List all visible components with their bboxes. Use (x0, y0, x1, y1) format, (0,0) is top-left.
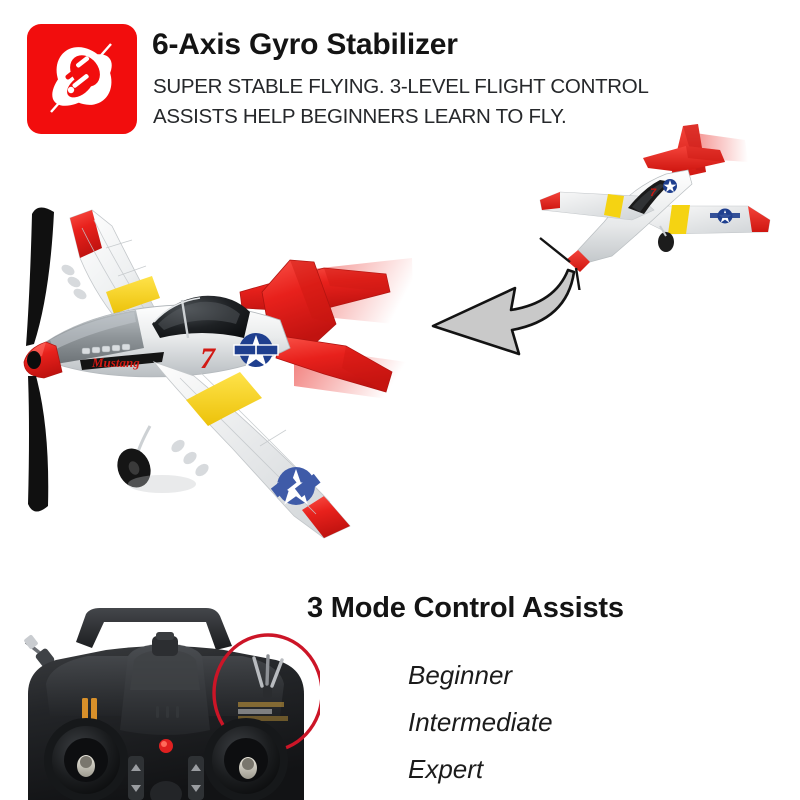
mode-item-expert: Expert (408, 746, 553, 793)
mode-item-intermediate: Intermediate (408, 699, 553, 746)
product-feature-graphic: 6-Axis Gyro Stabilizer SUPER STABLE FLYI… (0, 0, 800, 800)
curved-arrow (415, 258, 595, 363)
p51-mustang-rc-plane-main: Mustang 7 (0, 196, 414, 576)
page-title: 6-Axis Gyro Stabilizer (152, 28, 458, 62)
svg-text:7: 7 (650, 187, 657, 199)
svg-text:Mustang: Mustang (91, 355, 140, 370)
mode-item-beginner: Beginner (408, 652, 553, 699)
rc-transmitter (10, 598, 320, 800)
subtitle-line-1: SUPER STABLE FLYING. 3-LEVEL FLIGHT CONT… (153, 72, 753, 102)
svg-text:7: 7 (200, 342, 216, 375)
gyroscope-icon (27, 24, 137, 134)
modes-list: Beginner Intermediate Expert (408, 652, 553, 793)
left-gimbal (44, 718, 128, 800)
modes-heading: 3 Mode Control Assists (307, 592, 624, 625)
right-gimbal (204, 718, 288, 800)
